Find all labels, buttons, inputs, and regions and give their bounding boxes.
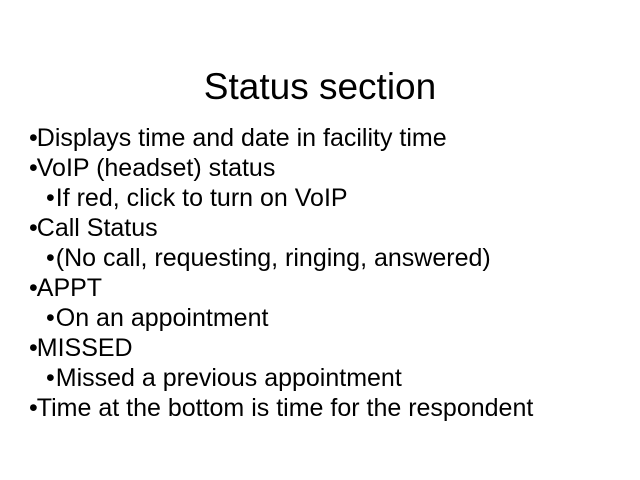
page-title: Status section (0, 65, 640, 109)
list-item-label: Displays time and date in facility time (37, 124, 447, 152)
bullet-icon: • (29, 214, 37, 242)
list-item: •Displays time and date in facility time (29, 123, 629, 153)
list-item: •(No call, requesting, ringing, answered… (29, 243, 629, 273)
bullet-icon: • (46, 304, 56, 332)
bullet-icon: • (29, 394, 37, 422)
list-item-label: VoIP (headset) status (37, 154, 276, 182)
list-item: •If red, click to turn on VoIP (29, 183, 629, 213)
list-item-label: (No call, requesting, ringing, answered) (56, 244, 491, 272)
bullet-icon: • (46, 244, 56, 272)
bullet-icon: • (46, 184, 56, 212)
list-item: •Call Status (29, 213, 629, 243)
bullet-icon: • (29, 124, 37, 152)
bullet-icon: • (29, 154, 37, 182)
bullet-icon: • (29, 274, 37, 302)
list-item: •Time at the bottom is time for the resp… (29, 393, 629, 423)
list-item-label: Time at the bottom is time for the respo… (37, 394, 534, 422)
list-item-label: If red, click to turn on VoIP (56, 184, 348, 212)
list-item-label: On an appointment (56, 304, 269, 332)
list-item-label: Call Status (37, 214, 158, 242)
slide-canvas: Status section •Displays time and date i… (0, 0, 640, 480)
list-item: •Missed a previous appointment (29, 363, 629, 393)
list-item-label: APPT (37, 274, 102, 302)
bullet-list: •Displays time and date in facility time… (29, 123, 629, 423)
list-item-label: MISSED (37, 334, 133, 362)
bullet-icon: • (46, 364, 56, 392)
list-item: •MISSED (29, 333, 629, 363)
list-item: •On an appointment (29, 303, 629, 333)
list-item-label: Missed a previous appointment (56, 364, 402, 392)
list-item: •VoIP (headset) status (29, 153, 629, 183)
list-item: •APPT (29, 273, 629, 303)
bullet-icon: • (29, 334, 37, 362)
